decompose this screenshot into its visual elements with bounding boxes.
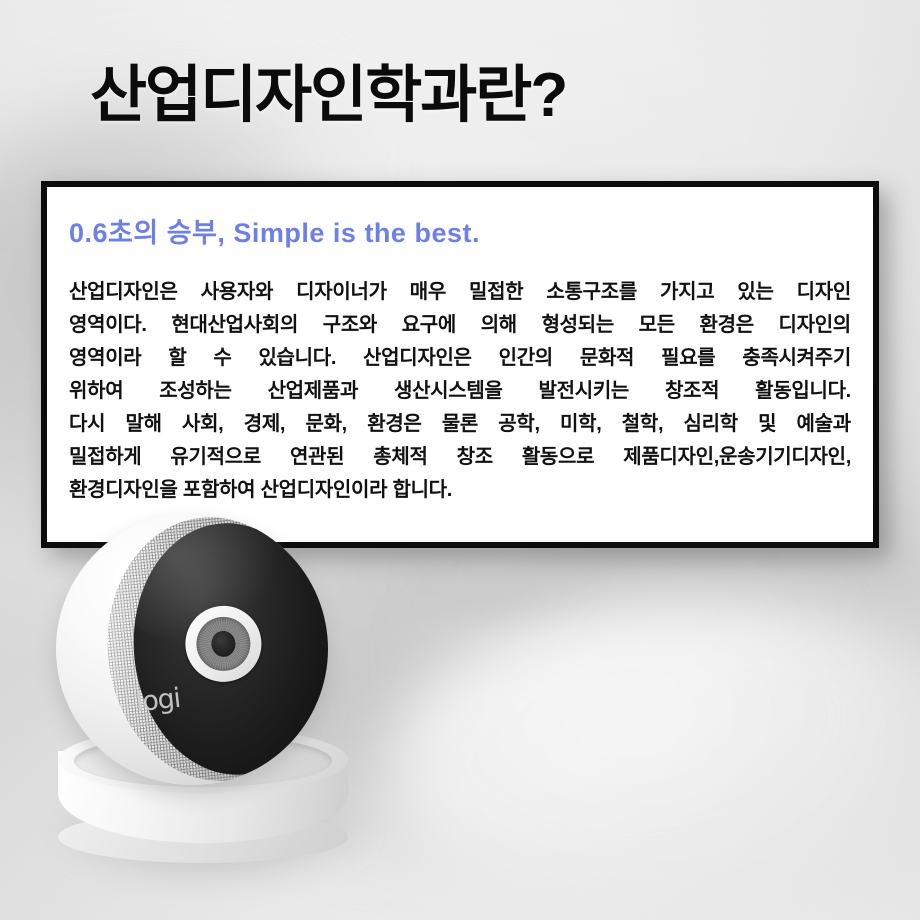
panel-subtitle: 0.6초의 승부, Simple is the best.: [69, 211, 851, 250]
body-line-text: 디자이너가: [296, 276, 387, 309]
body-line-text: 가지고: [660, 276, 714, 309]
body-line: 다시말해사회,경제,문화,환경은물론공학,미학,철학,심리학및예술과: [69, 408, 851, 441]
body-line-text: 영역이다.: [69, 309, 147, 342]
body-line-text: 활동으로: [522, 441, 594, 474]
body-line-text: 수: [213, 342, 231, 375]
body-line-text: 할: [168, 342, 186, 375]
body-line-text: 연관된: [290, 441, 344, 474]
body-line-text: 있는: [737, 276, 773, 309]
body-line-text: 충족시켜주기: [742, 342, 851, 375]
body-line-text: 생산시스템을: [394, 375, 503, 408]
body-line-text: 창조적: [665, 375, 719, 408]
body-line-text: 필요를: [661, 342, 715, 375]
body-line-text: 인간의: [499, 342, 553, 375]
body-line-text: 문화적: [580, 342, 634, 375]
body-line-text: 철학,: [622, 408, 663, 441]
body-line-text: 요구에: [402, 309, 456, 342]
body-line-text: 영역이라: [69, 342, 141, 375]
body-line-text: 심리학: [684, 408, 738, 441]
body-line-text: 창조: [457, 441, 493, 474]
body-line-text: 모든: [639, 309, 675, 342]
body-line-text: 공학,: [498, 408, 539, 441]
body-line-text: 산업제품과: [268, 375, 359, 408]
camera-lens-pupil: [210, 630, 237, 658]
body-line-text: 말해: [125, 408, 161, 441]
body-line-text: 위하여: [69, 375, 123, 408]
product-camera-image: logi: [40, 505, 380, 905]
body-line-text: 밀접한: [469, 276, 523, 309]
body-line-text: 디자인: [797, 276, 851, 309]
body-line-text: 발전시키는: [539, 375, 630, 408]
body-line: 위하여조성하는산업제품과생산시스템을발전시키는창조적활동입니다.: [69, 375, 851, 408]
body-line: 환경디자인을 포함하여 산업디자인이라 합니다.: [69, 474, 851, 507]
body-line: 산업디자인은사용자와디자이너가매우밀접한소통구조를가지고있는디자인: [69, 276, 851, 309]
body-line-text: 소통구조를: [546, 276, 637, 309]
camera-lens-iris: [194, 614, 253, 673]
page-title: 산업디자인학과란?: [90, 63, 566, 128]
body-line-text: 활동입니다.: [755, 375, 851, 408]
body-line: 영역이라할수있습니다.산업디자인은인간의문화적필요를충족시켜주기: [69, 342, 851, 375]
body-line-text: 물론: [442, 408, 478, 441]
body-line-text: 형성되는: [542, 309, 614, 342]
body-line-text: 현대산업사회의: [171, 309, 298, 342]
body-line-text: 문화,: [305, 408, 346, 441]
body-line-text: 의해: [481, 309, 517, 342]
logi-wordmark: logi: [134, 683, 181, 718]
camera-sphere-body: logi: [56, 513, 328, 785]
content-panel: 0.6초의 승부, Simple is the best. 산업디자인은사용자와…: [41, 181, 879, 548]
body-line-text: 산업디자인은: [363, 342, 472, 375]
body-line: 영역이다.현대산업사회의구조와요구에의해형성되는모든환경은디자인의: [69, 309, 851, 342]
body-line-text: 조성하는: [159, 375, 231, 408]
panel-body: 산업디자인은사용자와디자이너가매우밀접한소통구조를가지고있는디자인 영역이다.현…: [69, 276, 851, 507]
body-line-text: 밀접하게: [69, 441, 141, 474]
body-line-text: 매우: [410, 276, 446, 309]
body-line-text: 및: [758, 408, 776, 441]
body-line-text: 환경은: [367, 408, 421, 441]
body-line-text: 제품디자인,운송기기디자인,: [623, 441, 851, 474]
body-line-text: 환경디자인을 포함하여 산업디자인이라 합니다.: [69, 479, 452, 501]
body-line-text: 있습니다.: [258, 342, 336, 375]
slide-canvas: 산업디자인학과란? 0.6초의 승부, Simple is the best. …: [0, 0, 920, 920]
body-line-text: 미학,: [560, 408, 601, 441]
body-line-text: 사용자와: [201, 276, 273, 309]
body-line-text: 유기적으로: [170, 441, 261, 474]
body-line-text: 총체적: [373, 441, 427, 474]
body-line-text: 환경은: [700, 309, 754, 342]
content-panel-inner: 0.6초의 승부, Simple is the best. 산업디자인은사용자와…: [47, 187, 873, 507]
body-line: 밀접하게유기적으로연관된총체적창조활동으로제품디자인,운송기기디자인,: [69, 441, 851, 474]
body-line-text: 다시: [69, 408, 105, 441]
body-line-text: 구조와: [323, 309, 377, 342]
body-line-text: 사회,: [182, 408, 223, 441]
body-line-text: 산업디자인은: [69, 276, 178, 309]
body-line-text: 디자인의: [779, 309, 851, 342]
body-line-text: 경제,: [244, 408, 285, 441]
body-line-text: 예술과: [797, 408, 851, 441]
